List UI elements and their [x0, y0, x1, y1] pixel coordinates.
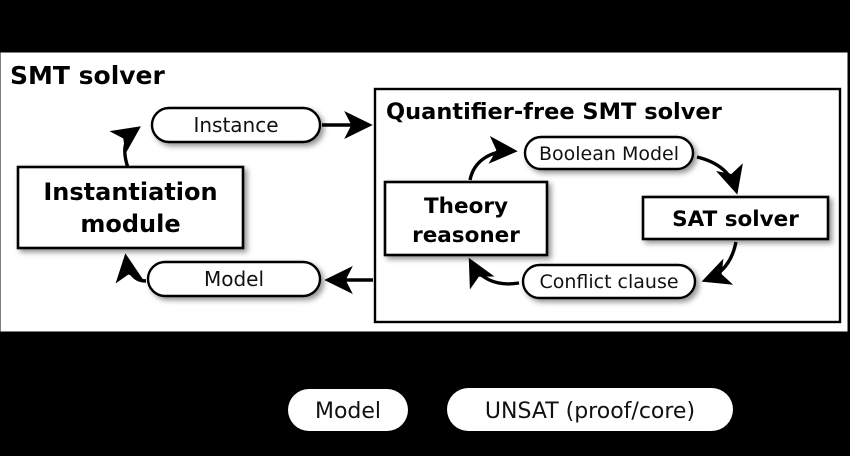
theory-reasoner-label-line2: reasoner	[412, 223, 520, 248]
output-unsat-pill-label: UNSAT (proof/core)	[485, 399, 695, 424]
conflict-clause-pill-label: Conflict clause	[539, 271, 678, 293]
quantifier-free-smt-solver-panel-label: Quantifier-free SMT solver	[386, 99, 723, 125]
boolean-model-pill-label: Boolean Model	[539, 143, 679, 165]
smt-solver-panel-label: SMT solver	[10, 61, 166, 90]
smt-solver-diagram: SMT solver Quantifier-free SMT solver In…	[0, 0, 850, 456]
output-unsat-pill[interactable]: UNSAT (proof/core)	[447, 388, 733, 431]
output-model-pill[interactable]: Model	[288, 389, 408, 431]
instantiation-module-box[interactable]: Instantiation module	[18, 167, 243, 248]
boolean-model-pill[interactable]: Boolean Model	[525, 137, 693, 169]
sat-solver-label: SAT solver	[672, 207, 799, 232]
output-model-pill-label: Model	[315, 399, 381, 424]
diagram-canvas: SMT solver Quantifier-free SMT solver In…	[0, 0, 850, 456]
output-pill-layer: Model UNSAT (proof/core)	[288, 388, 733, 431]
instantiation-module-label-line1: Instantiation	[43, 178, 217, 206]
conflict-clause-pill[interactable]: Conflict clause	[523, 265, 695, 298]
instance-pill-label: Instance	[193, 113, 278, 137]
theory-reasoner-label-line1: Theory	[424, 194, 508, 219]
theory-reasoner-box[interactable]: Theory reasoner	[385, 182, 547, 255]
instance-pill[interactable]: Instance	[152, 108, 320, 142]
instantiation-module-label-line2: module	[80, 210, 180, 238]
sat-solver-box[interactable]: SAT solver	[643, 197, 828, 239]
model-pill[interactable]: Model	[148, 262, 320, 296]
model-pill-label: Model	[204, 267, 264, 291]
